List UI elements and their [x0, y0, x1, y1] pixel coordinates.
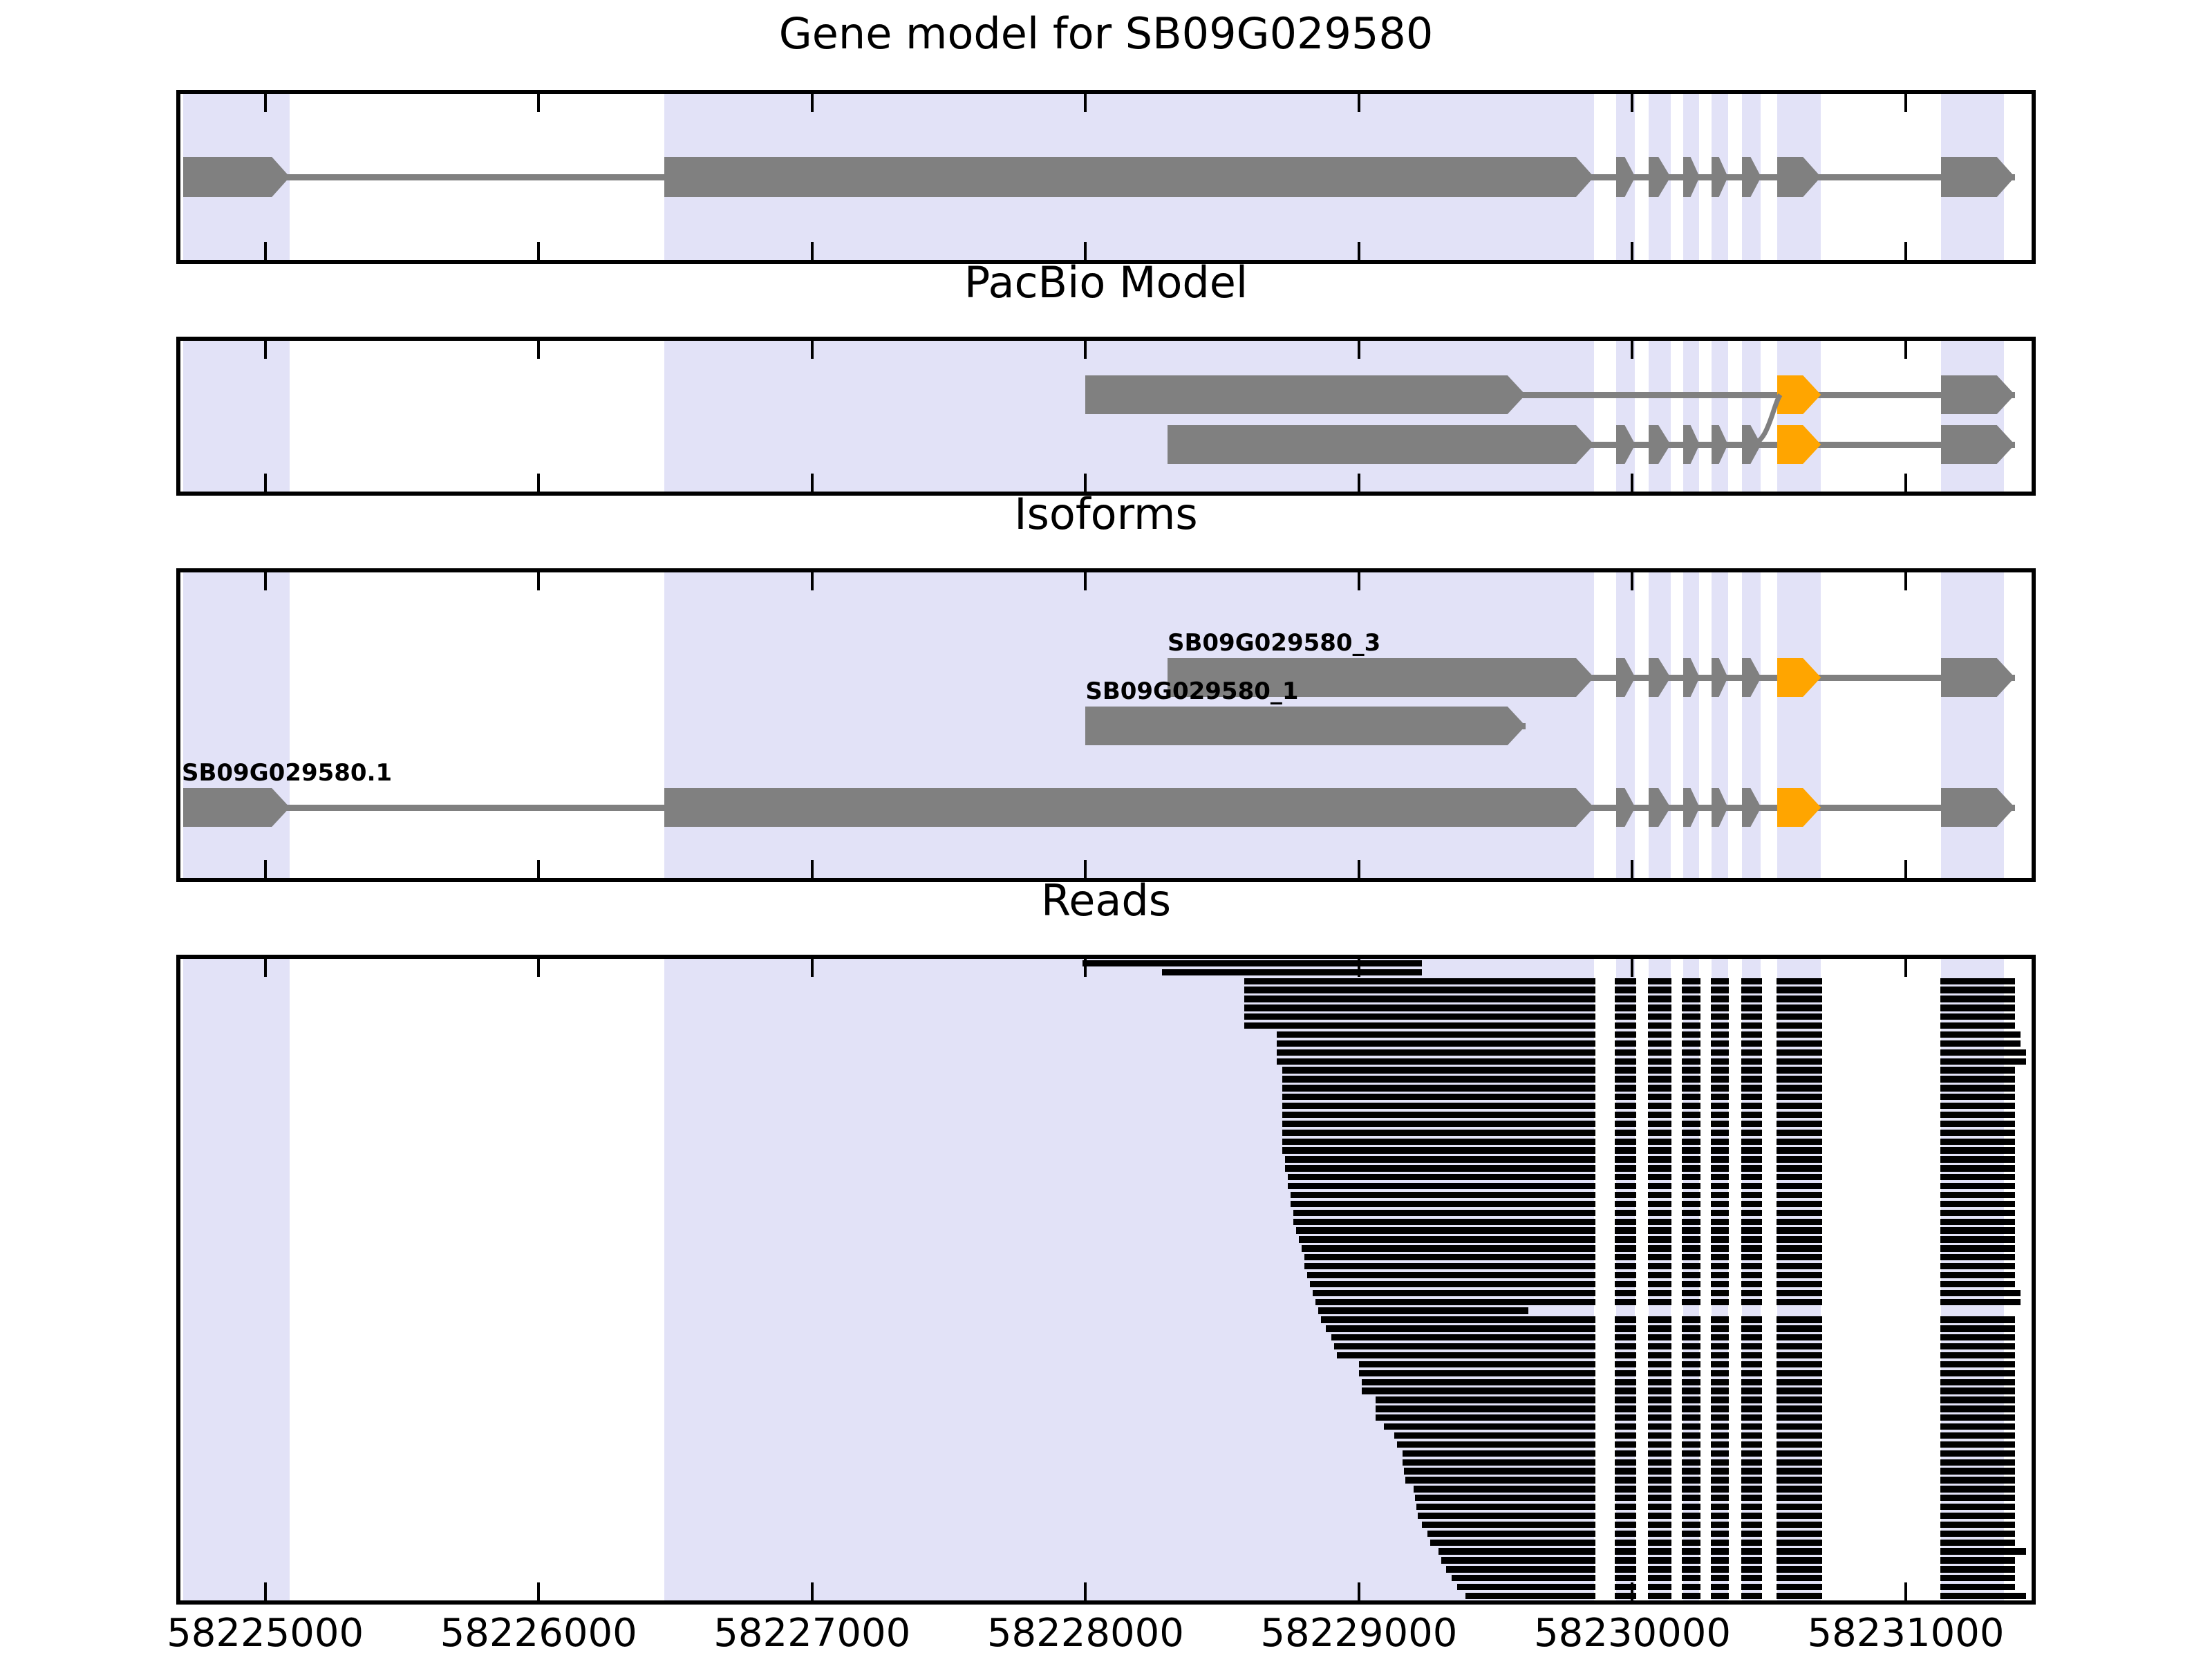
panel-gene-model[interactable]	[176, 90, 2036, 264]
exon-block	[1649, 788, 1671, 827]
exon-block	[183, 157, 290, 197]
exon-block	[183, 788, 290, 827]
read-segment	[1615, 1593, 1636, 1599]
x-tick-label: 58228000	[987, 1611, 1184, 1656]
exon-block	[1616, 788, 1635, 827]
exon-block	[1742, 788, 1761, 827]
exon-block	[1649, 157, 1671, 197]
read-segment	[1711, 1593, 1730, 1599]
read-segment	[1777, 1593, 1822, 1599]
reads-plot-area	[180, 959, 2032, 1600]
panel-title-pacbio: PacBio Model	[0, 261, 2212, 304]
exon-highlight	[1777, 788, 1821, 827]
exon-block	[664, 157, 1594, 197]
x-tick-label: 58227000	[713, 1611, 910, 1656]
figure-root: Gene model for SB09G029580 PacBio Model …	[0, 0, 2212, 1659]
exon-block	[1742, 425, 1761, 464]
panel-reads[interactable]	[176, 955, 2036, 1605]
exon-block	[1168, 425, 1594, 464]
gene-model-plot-area	[180, 94, 2032, 260]
exon-block	[1941, 788, 2015, 827]
panel-isoforms[interactable]: SB09G029580_3SB09G029580_1SB09G029580.1	[176, 568, 2036, 882]
exon-block	[1941, 157, 2015, 197]
exon-block	[1742, 157, 1761, 197]
exon-block	[664, 788, 1594, 827]
transcript-label: SB09G029580.1	[182, 759, 392, 787]
exon-block	[1649, 425, 1671, 464]
panel-title-reads: Reads	[0, 879, 2212, 922]
transcript[interactable]: SB09G029580.1	[180, 572, 2032, 878]
x-axis-tick-labels: 5822500058226000582270005822800058229000…	[0, 1611, 2212, 1673]
exon-block	[1616, 157, 1635, 197]
exon-block	[1683, 157, 1700, 197]
read-segment	[1940, 1593, 2026, 1599]
isoforms-plot-area: SB09G029580_3SB09G029580_1SB09G029580.1	[180, 572, 2032, 878]
exon-block	[1683, 425, 1700, 464]
panel-title-isoforms: Isoforms	[0, 493, 2212, 536]
exon-block	[1941, 425, 2015, 464]
read-segment	[1465, 1593, 1595, 1599]
transcript[interactable]	[180, 341, 2032, 492]
panel-pacbio-model[interactable]	[176, 337, 2036, 496]
exon-block	[1712, 425, 1728, 464]
exon-block	[1683, 788, 1700, 827]
exon-block	[1712, 788, 1728, 827]
exon-block	[1616, 425, 1635, 464]
read-segment	[1741, 1593, 1762, 1599]
x-tick-label: 58226000	[440, 1611, 637, 1656]
read-segment	[1682, 1593, 1700, 1599]
x-tick-label: 58225000	[167, 1611, 364, 1656]
exon-block	[1777, 157, 1821, 197]
figure-title: Gene model for SB09G029580	[0, 12, 2212, 55]
x-tick-label: 58229000	[1260, 1611, 1457, 1656]
exon-highlight	[1777, 425, 1821, 464]
read-row[interactable]	[180, 959, 2032, 1600]
read-segment	[1648, 1593, 1672, 1599]
x-tick-label: 58230000	[1534, 1611, 1731, 1656]
x-tick-label: 58231000	[1808, 1611, 2005, 1656]
exon-block	[1712, 157, 1728, 197]
transcript[interactable]	[180, 94, 2032, 260]
pacbio-plot-area	[180, 341, 2032, 492]
